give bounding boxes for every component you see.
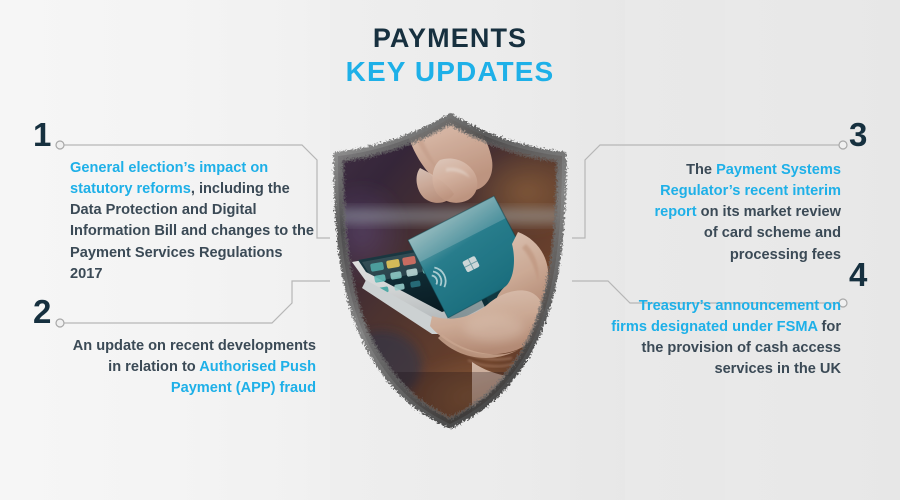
item-number-4: 4 — [849, 258, 867, 291]
item-number-1: 1 — [33, 118, 51, 151]
title-secondary: KEY UPDATES — [0, 54, 900, 90]
shield-graphic — [322, 112, 578, 430]
text-segment-3: on its market review of card scheme and … — [697, 204, 841, 262]
connector-node-3 — [839, 141, 847, 149]
text-segment-1: Treasury’s announcement on firms designa… — [611, 298, 841, 335]
infographic-canvas: PAYMENTS KEY UPDATES — [0, 0, 900, 500]
connector-node-1 — [56, 141, 64, 149]
item-number-2: 2 — [33, 295, 51, 328]
item-text-1: General election’s impact on statutory r… — [70, 158, 316, 285]
item-text-4: Treasury’s announcement on firms designa… — [610, 296, 841, 381]
item-number-3: 3 — [849, 118, 867, 151]
item-text-3: The Payment Systems Regulator’s recent i… — [645, 160, 841, 266]
page-title: PAYMENTS KEY UPDATES — [0, 24, 900, 90]
connector-line-2 — [63, 281, 330, 323]
item-text-2: An update on recent developments in rela… — [60, 336, 316, 399]
shield-payment-photo — [322, 112, 578, 430]
connector-node-2 — [56, 319, 64, 327]
title-primary: PAYMENTS — [0, 24, 900, 54]
text-segment-1: The — [686, 162, 716, 178]
